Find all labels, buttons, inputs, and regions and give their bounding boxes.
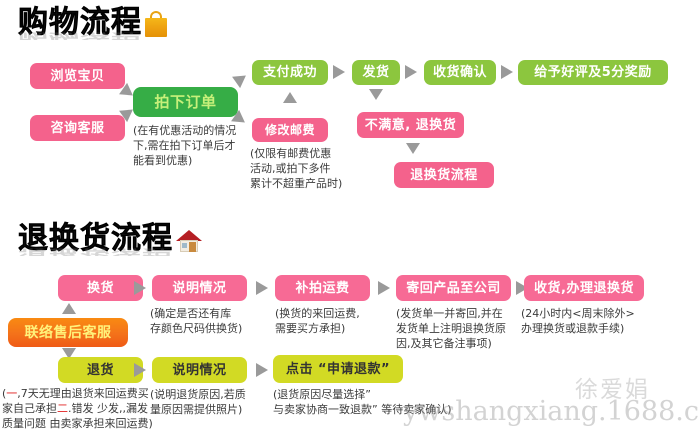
box-apply-refund[interactable]: 点击 “申请退款” bbox=[273, 355, 403, 383]
house-door bbox=[189, 242, 196, 252]
box-send-back-label: 寄回产品至公司 bbox=[406, 282, 501, 295]
box-not-satisfied[interactable]: 不满意, 退换货 bbox=[357, 112, 464, 138]
note-return-policy: (一,7天无理由退货来回运费买 家自己承担二.错发 少发,,漏发 质量问题 由卖… bbox=[2, 386, 162, 431]
shopping-bag-icon bbox=[145, 11, 167, 37]
note-extra-shipping: (换货的来回运费, 需要买方承担) bbox=[275, 306, 385, 336]
box-contact-service-label: 咨询客服 bbox=[50, 122, 104, 135]
policy-mark-two: 二 bbox=[57, 402, 68, 415]
box-confirm-receipt-label: 收货确认 bbox=[433, 66, 487, 79]
box-exchange[interactable]: 换货 bbox=[58, 275, 143, 301]
box-modify-shipping[interactable]: 修改邮费 bbox=[252, 118, 328, 142]
box-return-goods[interactable]: 退货 bbox=[58, 357, 143, 383]
flowchart-page: 购物流程 购物流程 浏览宝贝 咨询客服 拍下订单 (在有优惠活动的情况 下,需在… bbox=[0, 0, 700, 442]
box-return-process-label: 退换货流程 bbox=[410, 169, 478, 182]
note-exchange: (确定是否还有库 存颜色尺码供换货) bbox=[150, 306, 260, 336]
box-explain-exchange-label: 说明情况 bbox=[172, 282, 226, 295]
box-exchange-label: 换货 bbox=[87, 282, 114, 295]
arrow-payment-to-ship bbox=[333, 65, 345, 79]
box-browse-item[interactable]: 浏览宝贝 bbox=[30, 63, 125, 89]
box-browse-item-label: 浏览宝贝 bbox=[50, 70, 104, 83]
arrow-order-to-payment bbox=[232, 70, 250, 88]
arrow-aftersales-to-exchange bbox=[62, 303, 76, 314]
box-extra-shipping-label: 补拍运费 bbox=[295, 282, 349, 295]
box-ship-goods[interactable]: 发货 bbox=[352, 60, 400, 85]
box-send-back[interactable]: 寄回产品至公司 bbox=[396, 275, 511, 301]
box-place-order-label: 拍下订单 bbox=[154, 95, 216, 110]
box-explain-return-label: 说明情况 bbox=[172, 364, 226, 377]
arrow-explain-to-shipping bbox=[256, 281, 268, 295]
watermark-url: ywshangxiang.1688.com bbox=[403, 396, 700, 427]
box-modify-shipping-label: 修改邮费 bbox=[265, 124, 315, 136]
box-contact-after-sales-label: 联络售后客服 bbox=[25, 326, 112, 340]
policy-mark-one: 一 bbox=[6, 387, 17, 400]
box-payment-success[interactable]: 支付成功 bbox=[252, 60, 328, 85]
house-icon bbox=[176, 229, 202, 253]
arrow-unsatisfied-to-return bbox=[406, 143, 420, 154]
arrow-confirm-to-review bbox=[501, 65, 513, 79]
bag-body bbox=[145, 18, 167, 37]
box-contact-service[interactable]: 咨询客服 bbox=[30, 115, 125, 141]
note-explain-return: (说明退货原因,若质 量原因需提供照片) bbox=[150, 387, 265, 417]
box-payment-success-label: 支付成功 bbox=[263, 66, 317, 79]
box-return-process[interactable]: 退换货流程 bbox=[394, 162, 494, 188]
box-return-goods-label: 退货 bbox=[87, 364, 114, 377]
box-explain-exchange[interactable]: 说明情况 bbox=[152, 275, 247, 301]
arrow-explain-to-refund bbox=[256, 363, 268, 377]
house-window bbox=[182, 243, 187, 248]
arrow-ship-to-confirm bbox=[405, 65, 417, 79]
box-extra-shipping[interactable]: 补拍运费 bbox=[275, 275, 370, 301]
box-confirm-receipt[interactable]: 收货确认 bbox=[424, 60, 496, 85]
box-place-order[interactable]: 拍下订单 bbox=[133, 87, 238, 117]
section-title-return-text: 退换货流程 bbox=[18, 221, 173, 256]
box-ship-goods-label: 发货 bbox=[362, 66, 389, 79]
box-receive-process[interactable]: 收货,办理退换货 bbox=[524, 275, 644, 301]
note-send-back: (发货单一并寄回,并在 发货单上注明退换货原 因,及其它备注事项) bbox=[396, 306, 526, 351]
box-give-review-label: 给予好评及5分奖励 bbox=[534, 66, 652, 79]
box-not-satisfied-label: 不满意, 退换货 bbox=[365, 119, 456, 132]
box-contact-after-sales[interactable]: 联络售后客服 bbox=[8, 318, 128, 347]
note-receive-process: (24小时内<周末除外> 办理换货或退款手续) bbox=[521, 306, 661, 336]
arrow-shipping-to-sendback bbox=[378, 281, 390, 295]
box-give-review[interactable]: 给予好评及5分奖励 bbox=[518, 60, 668, 85]
note-place-order: (在有优惠活动的情况 下,需在拍下订单后才 能看到优惠) bbox=[133, 123, 253, 168]
section-title-shopping-text: 购物流程 bbox=[18, 5, 142, 40]
box-apply-refund-label: 点击 “申请退款” bbox=[286, 363, 390, 376]
box-receive-process-label: 收货,办理退换货 bbox=[534, 282, 634, 295]
arrow-ship-to-unsatisfied bbox=[369, 89, 383, 100]
section-title-return: 退换货流程 退换货流程 bbox=[18, 224, 202, 254]
section-title-shopping: 购物流程 购物流程 bbox=[18, 8, 167, 38]
arrow-modify-to-payment bbox=[283, 92, 297, 103]
note-modify-shipping: (仅限有邮费优惠 活动,或拍下多件 累计不超重产品时) bbox=[250, 146, 360, 191]
box-explain-return[interactable]: 说明情况 bbox=[152, 357, 247, 383]
arrow-exchange-to-explain bbox=[134, 281, 146, 295]
arrow-return-to-explain bbox=[134, 363, 146, 377]
